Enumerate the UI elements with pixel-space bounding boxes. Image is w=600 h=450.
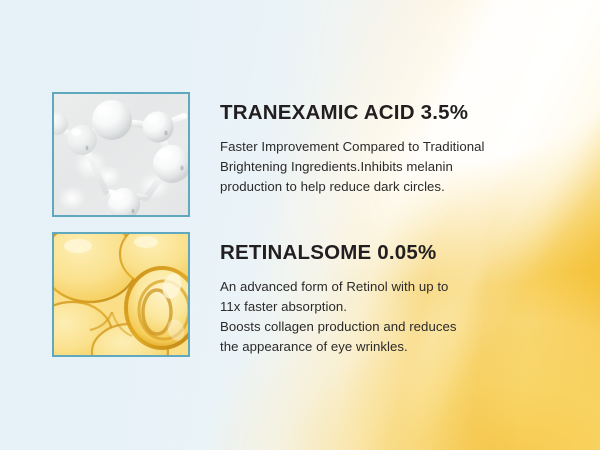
description-line: the appearance of eye wrinkles. [220, 337, 457, 357]
description-line: Brightening Ingredients.Inhibits melanin [220, 157, 485, 177]
golden-oil-bubbles-photo [52, 232, 190, 357]
ingredient-description: An advanced form of Retinol with up to 1… [220, 277, 457, 357]
ingredient-text-tranexamic-acid: TRANEXAMIC ACID 3.5% Faster Improvement … [220, 92, 485, 197]
description-line: production to help reduce dark circles. [220, 177, 485, 197]
molecule-structure-photo [52, 92, 190, 217]
description-line: Faster Improvement Compared to Tradition… [220, 137, 485, 157]
ingredient-highlight-banner: TRANEXAMIC ACID 3.5% Faster Improvement … [0, 0, 600, 450]
ingredient-row-retinalsome: RETINALSOME 0.05% An advanced form of Re… [52, 232, 457, 357]
description-line: Boosts collagen production and reduces [220, 317, 457, 337]
banner-content: TRANEXAMIC ACID 3.5% Faster Improvement … [0, 0, 600, 450]
ingredient-row-tranexamic-acid: TRANEXAMIC ACID 3.5% Faster Improvement … [52, 92, 485, 217]
ingredient-description: Faster Improvement Compared to Tradition… [220, 137, 485, 197]
ingredient-text-retinalsome: RETINALSOME 0.05% An advanced form of Re… [220, 232, 457, 357]
description-line: An advanced form of Retinol with up to [220, 277, 457, 297]
ingredient-heading: TRANEXAMIC ACID 3.5% [220, 102, 485, 125]
ingredient-heading: RETINALSOME 0.05% [220, 242, 457, 265]
description-line: 11x faster absorption. [220, 297, 457, 317]
